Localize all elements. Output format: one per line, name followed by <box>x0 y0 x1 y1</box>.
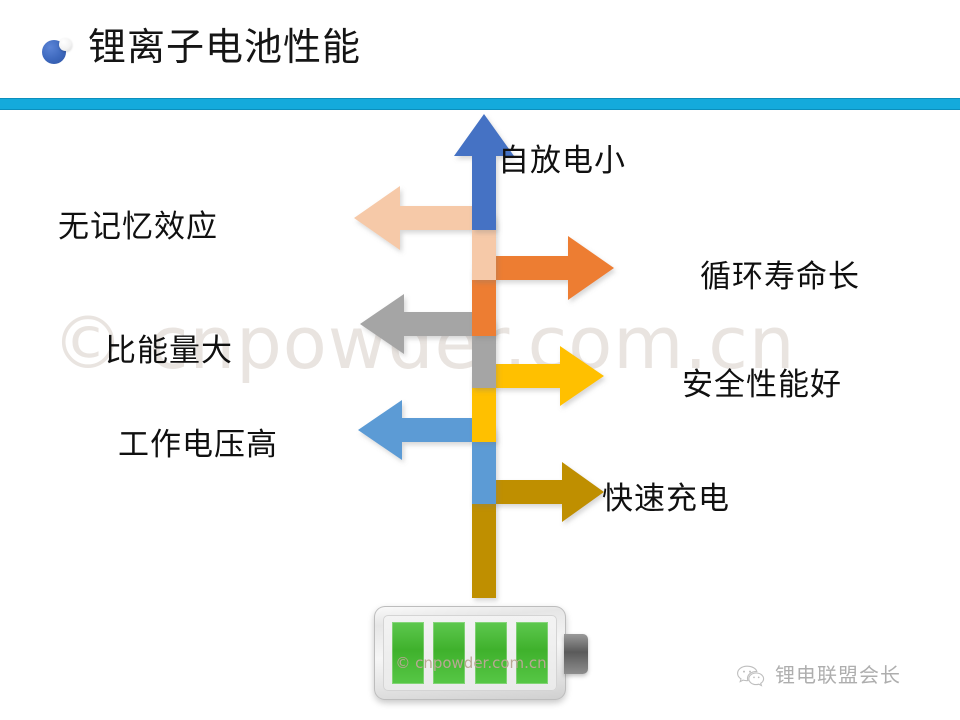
two-circle-bullet-icon <box>42 38 76 64</box>
battery-cell <box>433 622 465 684</box>
bullet-small-circle <box>59 38 72 51</box>
branch-label-self-discharge: 自放电小 <box>498 142 626 180</box>
battery-cell <box>516 622 548 684</box>
battery-full-icon: © cnpowder.com.cn <box>374 606 588 700</box>
branch-label-cycle-life: 循环寿命长 <box>700 258 860 296</box>
branch-label-fast-charge: 快速充电 <box>602 480 730 518</box>
battery-cell <box>392 622 424 684</box>
branch-label-energy-density: 比能量大 <box>105 332 233 370</box>
battery-terminal <box>564 634 588 674</box>
battery-cells-container <box>383 615 557 691</box>
page-title: 锂离子电池性能 <box>88 22 361 74</box>
slide-header: 锂离子电池性能 <box>0 0 960 98</box>
branch-label-no-memory: 无记忆效应 <box>58 208 218 246</box>
slide-canvas: 锂离子电池性能 © cnpowder.com.cn <box>0 0 960 720</box>
battery-body <box>374 606 566 700</box>
branch-label-voltage: 工作电压高 <box>118 426 278 464</box>
branch-label-safety: 安全性能好 <box>682 366 842 404</box>
battery-watermark: © cnpowder.com.cn <box>376 654 566 672</box>
brand-label: 锂电联盟会长 <box>775 664 901 688</box>
battery-cell <box>475 622 507 684</box>
wechat-bubble-icon <box>736 664 766 688</box>
arrow-tree-diagram: 自放电小 无记忆效应 循环寿命长 比能量大 安全性能好 工作电压高 快速充电 ©… <box>0 108 960 720</box>
brand-footer: 锂电联盟会长 <box>736 664 901 688</box>
